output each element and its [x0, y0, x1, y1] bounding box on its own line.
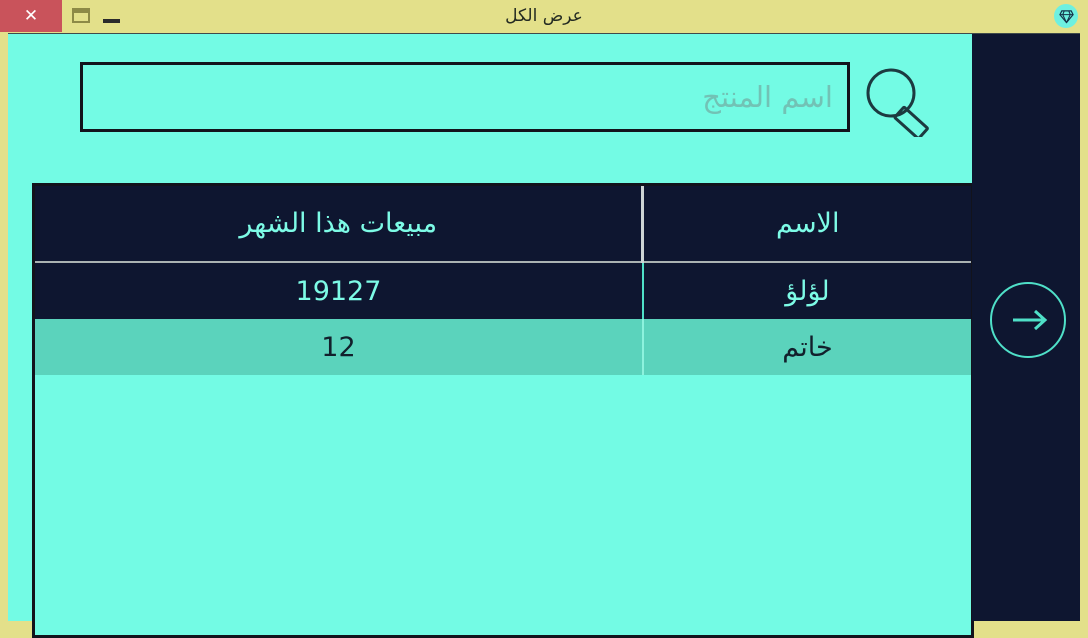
title-bar: ✕ عرض الكل [0, 0, 1088, 32]
app-window: ✕ عرض الكل [0, 0, 1088, 628]
products-grid: الاسم مبيعات هذا الشهر لؤلؤ 19127 خاتم 1… [35, 186, 971, 375]
table-body: لؤلؤ 19127 خاتم 12 [35, 262, 971, 375]
main-panel: الاسم مبيعات هذا الشهر لؤلؤ 19127 خاتم 1… [8, 34, 972, 621]
search-input[interactable] [80, 62, 850, 132]
cell-name: خاتم [643, 319, 971, 375]
table-header-row: الاسم مبيعات هذا الشهر [35, 186, 971, 262]
column-header-sales[interactable]: مبيعات هذا الشهر [35, 186, 643, 262]
table-header: الاسم مبيعات هذا الشهر [35, 186, 971, 262]
table-row[interactable]: خاتم 12 [35, 319, 971, 375]
table-row[interactable]: لؤلؤ 19127 [35, 262, 971, 319]
content-frame: الاسم مبيعات هذا الشهر لؤلؤ 19127 خاتم 1… [8, 33, 1080, 620]
search-icon[interactable] [860, 67, 940, 137]
search-row [8, 62, 972, 142]
window-title: عرض الكل [0, 0, 1088, 32]
cell-sales: 12 [35, 319, 643, 375]
cell-name: لؤلؤ [643, 262, 971, 319]
cell-sales: 19127 [35, 262, 643, 319]
arrow-right-icon [1005, 307, 1051, 333]
products-table: الاسم مبيعات هذا الشهر لؤلؤ 19127 خاتم 1… [32, 183, 974, 638]
column-header-name[interactable]: الاسم [643, 186, 971, 262]
side-panel [972, 34, 1080, 621]
gem-icon[interactable] [1054, 4, 1078, 28]
next-button[interactable] [990, 282, 1066, 358]
